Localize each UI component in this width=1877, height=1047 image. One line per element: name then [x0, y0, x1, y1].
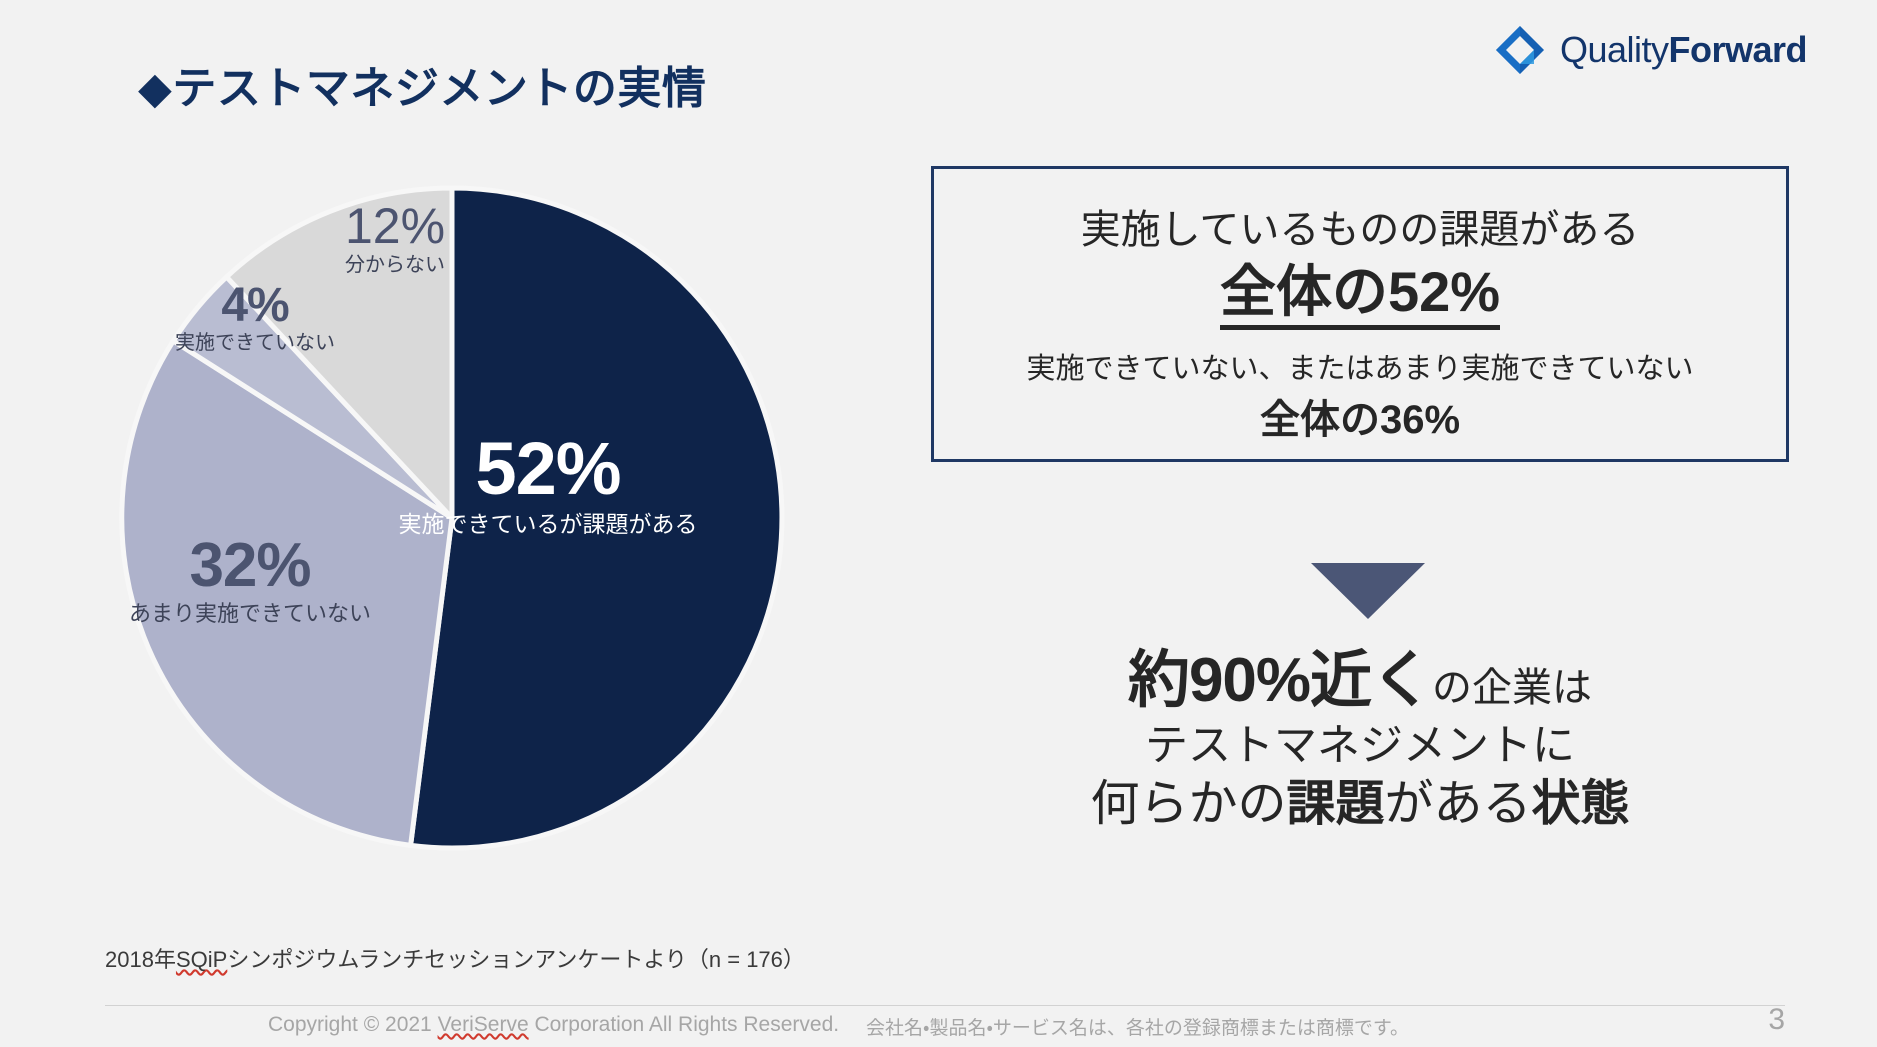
footnote-suffix: シンポジウムランチセッションアンケートより（n = 176） — [227, 947, 805, 972]
pie-slice-52 — [411, 188, 782, 848]
footer-page-number: 3 — [1768, 1003, 1785, 1037]
footnote-source-name: SQiP — [176, 947, 227, 972]
conclusion-line-3-d: 状態 — [1532, 777, 1630, 831]
logo-word-quality: Quality — [1560, 29, 1669, 70]
callout-line-2-underlined: 全体の52% — [1220, 260, 1500, 330]
chart-source-footnote: 2018年SQiPシンポジウムランチセッションアンケートより（n = 176） — [105, 942, 805, 974]
conclusion-line-1: 約90%近くの企業は — [931, 645, 1789, 716]
callout-line-2: 全体の52% — [934, 247, 1786, 328]
footnote-prefix: 2018年 — [105, 947, 176, 972]
conclusion-line-3-c: がある — [1385, 777, 1532, 831]
down-arrow-icon — [1311, 563, 1425, 619]
callout-line-4: 全体の36% — [934, 387, 1786, 445]
conclusion-line-2: テストマネジメントに — [931, 720, 1789, 774]
footer-copyright: Copyright © 2021 VeriServe Corporation A… — [268, 1013, 839, 1037]
conclusion-line-1-tail: の企業は — [1432, 666, 1592, 710]
conclusion-text: 約90%近くの企業は テストマネジメントに 何らかの課題がある状態 — [931, 645, 1789, 835]
footer-copyright-c: Corporation All Rights Reserved. — [529, 1013, 839, 1036]
callout-line-3: 実施できていない、またはあまり実施できていない — [934, 345, 1786, 387]
brand-logo-text: QualityForward — [1560, 29, 1807, 71]
summary-callout-box: 実施しているものの課題がある 全体の52% 実施できていない、またはあまり実施で… — [931, 166, 1789, 462]
slide-canvas: ◆テストマネジメントの実情 QualityForward — [0, 0, 1877, 1047]
footer-trademark-notice: 会社名・製品名・サービス名は、各社の登録商標または商標です。 — [866, 1013, 1409, 1040]
conclusion-emphasis: 約90%近く — [1128, 646, 1432, 715]
footer-company-name: VeriServe — [438, 1013, 529, 1036]
conclusion-line-3-b: 課題 — [1286, 777, 1384, 831]
diamond-logo-icon — [1494, 24, 1546, 76]
brand-logo: QualityForward — [1494, 24, 1807, 76]
pie-chart: 52% 実施できているが課題がある 32% あまり実施できていない 4% 実施で… — [112, 178, 792, 858]
page-title: ◆テストマネジメントの実情 — [138, 52, 706, 116]
logo-word-forward: Forward — [1668, 29, 1807, 70]
conclusion-line-3: 何らかの課題がある状態 — [931, 774, 1789, 835]
footer-copyright-a: Copyright © 2021 — [268, 1013, 438, 1036]
footer-divider — [105, 1005, 1785, 1006]
conclusion-line-3-a: 何らかの — [1090, 777, 1286, 831]
